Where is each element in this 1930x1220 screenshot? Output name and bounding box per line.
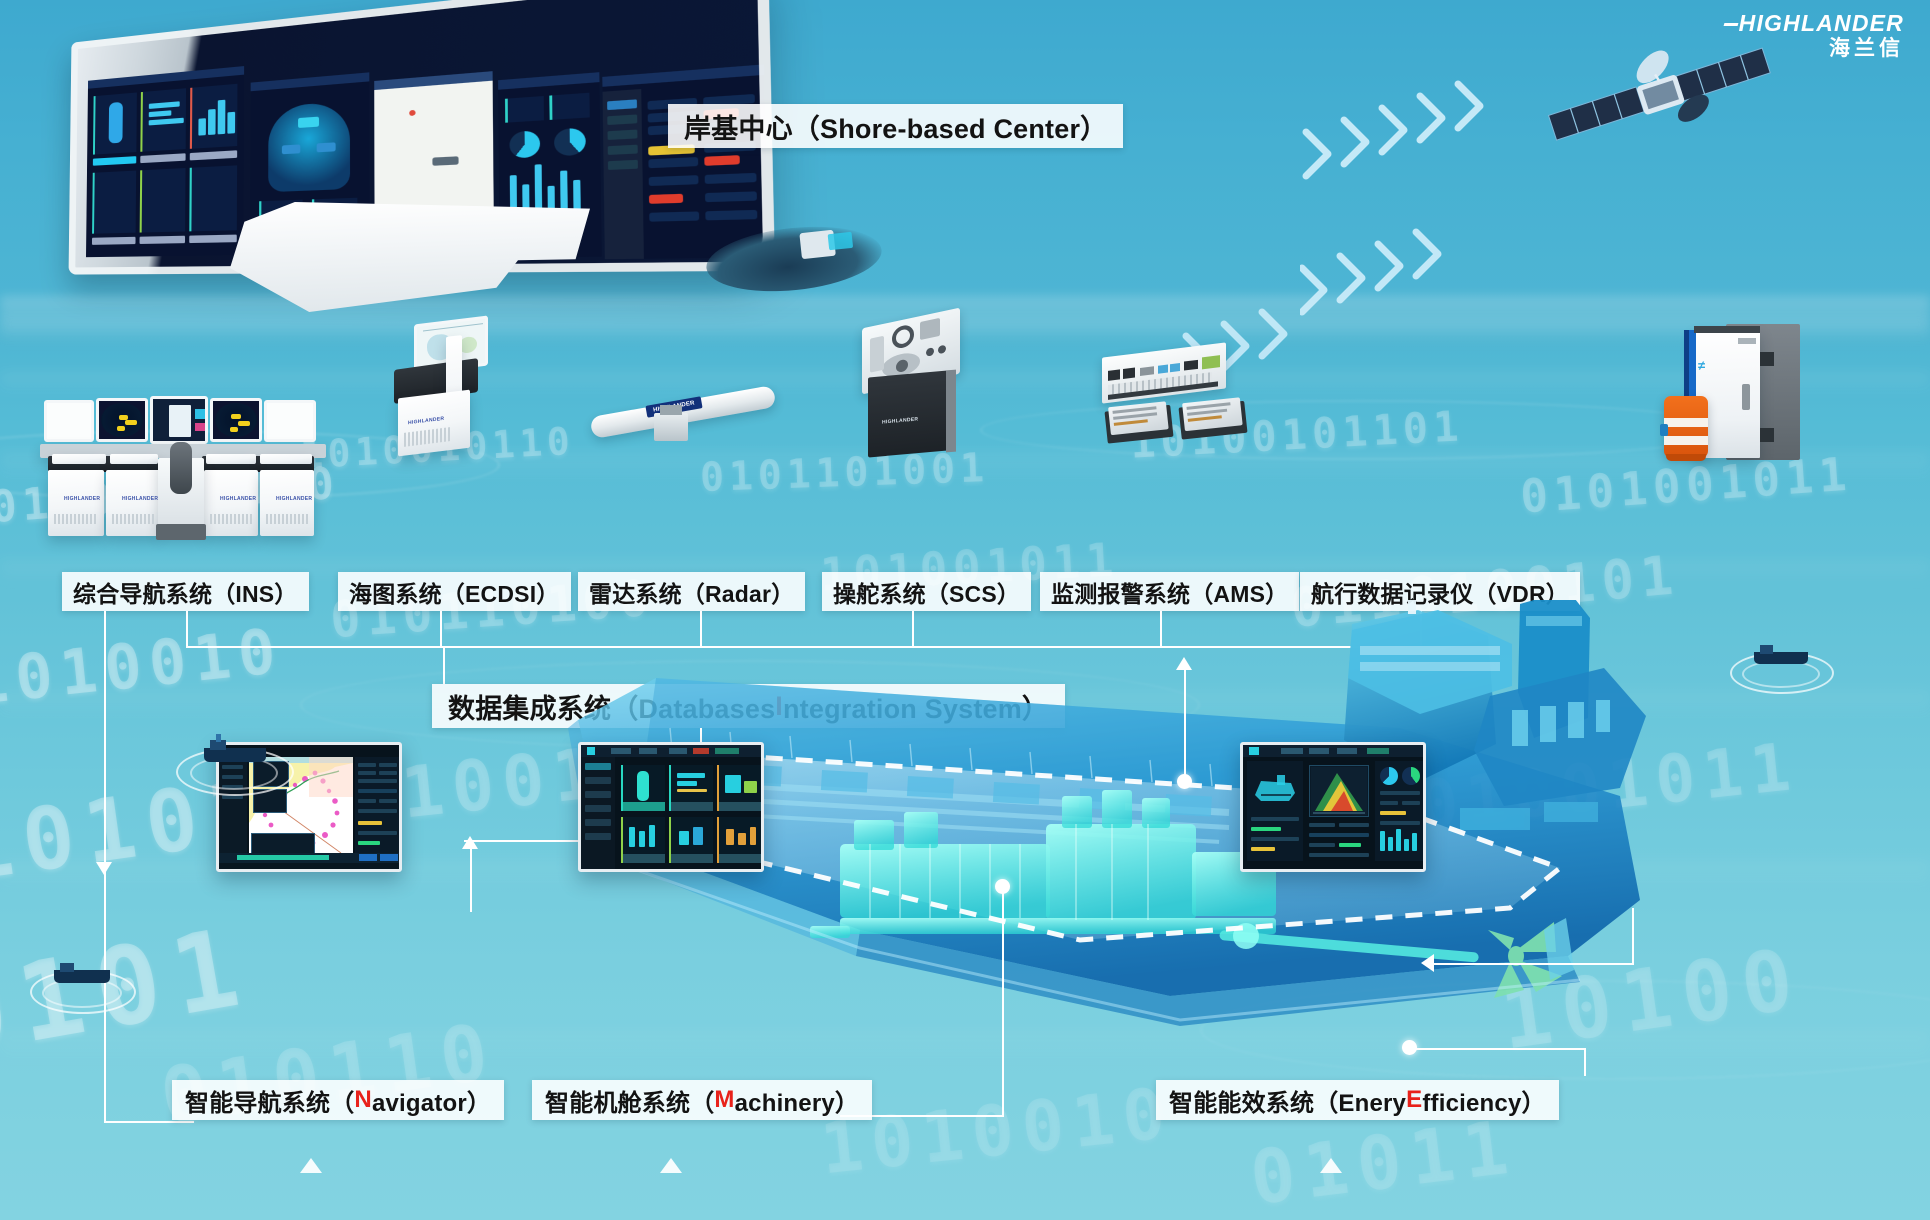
energy-efficiency-screen (1240, 742, 1426, 872)
shore-based-center-illustration (62, 42, 672, 312)
label-efficiency: 智能能效系统（Enery Efficiency） (1156, 1080, 1559, 1120)
radar-antenna-icon: HIGHLANDER (590, 365, 790, 455)
ins-console-icon: HIGHLANDER HIGHLANDER HIGHLANDER HIGHLAN… (34, 398, 334, 538)
label-navigator: 智能导航系统（Navigator） (172, 1080, 504, 1120)
logo-dash-icon (1723, 23, 1738, 26)
control-desk (230, 202, 590, 312)
small-vessel-right (1730, 636, 1838, 698)
small-vessel-left-lower (30, 952, 140, 1016)
brand-name-en: HIGHLANDER (1724, 12, 1904, 35)
scs-console-icon: HIGHLANDER (862, 318, 972, 460)
ams-units-icon (1094, 340, 1294, 460)
marker-navigator (300, 1158, 322, 1173)
diagram-canvas: 01001010110 1010010110 0101101001 101001… (0, 0, 1930, 1220)
machinery-screen (578, 742, 764, 872)
vdr-cabinet-icon: ≠ (1660, 322, 1830, 472)
small-vessel-left-upper (176, 728, 296, 798)
ecdis-workstation-icon: HIGHLANDER (390, 320, 500, 460)
shore-center-label: 岸基中心（Shore-based Center） (668, 104, 1123, 148)
label-machinery: 智能机舱系统（Machinery） (532, 1080, 872, 1120)
marker-efficiency (1320, 1158, 1342, 1173)
label-ins: 综合导航系统（INS） (62, 572, 309, 611)
label-ecdis: 海图系统（ECDSI） (338, 572, 571, 611)
marker-machinery (660, 1158, 682, 1173)
